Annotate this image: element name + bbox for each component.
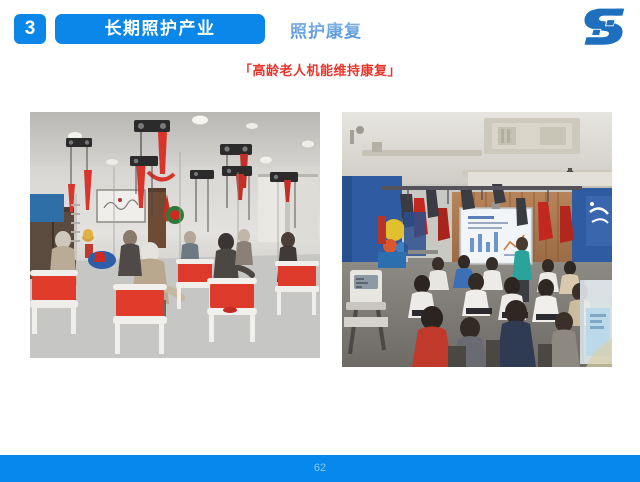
- photo-rehab-suspension-room: [30, 112, 320, 358]
- section-number-badge: 3: [14, 14, 46, 44]
- page-number: 62: [0, 455, 640, 482]
- slide-subtitle: 照护康复: [290, 17, 362, 42]
- slide-header: 3 长期照护产业 照护康复: [0, 0, 640, 56]
- photo-group-training-lecture: [342, 112, 612, 367]
- company-logo-s-icon: [582, 6, 626, 48]
- slide-footer-bar: 62: [0, 455, 640, 482]
- section-title-pill: 长期照护产业: [55, 14, 265, 44]
- slide-caption: 「高龄老人机能维持康复」: [0, 60, 640, 79]
